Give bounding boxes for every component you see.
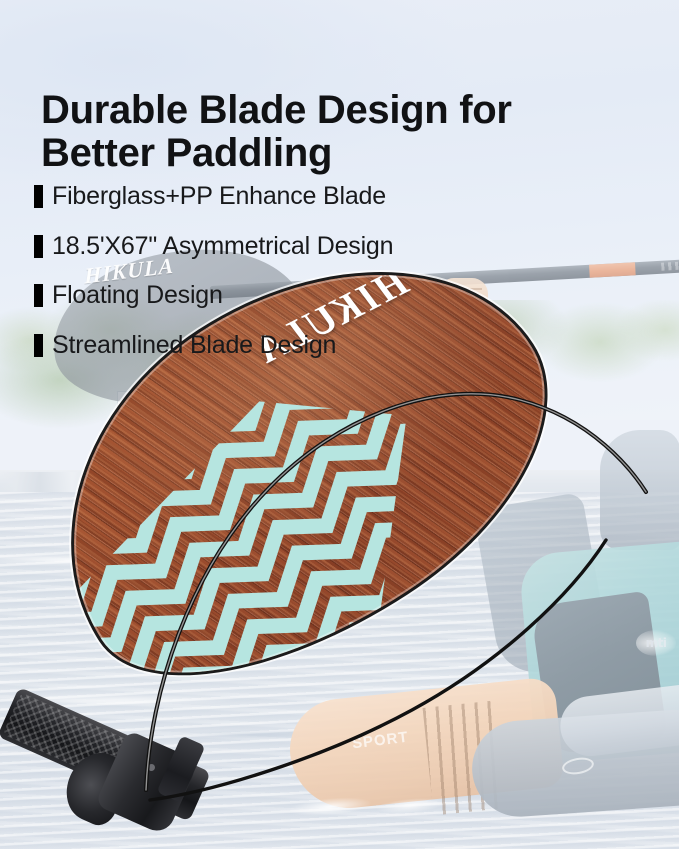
shaft-marking	[661, 259, 679, 271]
bullet-bar-icon	[34, 334, 43, 357]
headline-line-1: Durable Blade Design for	[41, 88, 512, 132]
headline-line-2: Better Paddling	[41, 131, 332, 175]
feature-list: Fiberglass+PP Enhance Blade 18.5'X67" As…	[34, 183, 654, 359]
list-item: Fiberglass+PP Enhance Blade	[34, 183, 654, 211]
list-item: 18.5'X67" Asymmetrical Design	[34, 233, 654, 261]
list-item: Streamlined Blade Design	[34, 332, 654, 360]
feature-label: 18.5'X67" Asymmetrical Design	[52, 233, 393, 261]
product-feature-banner: HIKULA mti SPORT	[0, 0, 679, 849]
page-title: Durable Blade Design for Better Paddling	[41, 89, 641, 175]
list-item: Floating Design	[34, 282, 654, 310]
bullet-bar-icon	[34, 235, 43, 258]
feature-label: Fiberglass+PP Enhance Blade	[52, 183, 386, 211]
feature-label: Floating Design	[52, 282, 223, 310]
bullet-bar-icon	[34, 185, 43, 208]
bullet-bar-icon	[34, 284, 43, 307]
mti-logo: mti	[636, 630, 676, 656]
feature-label: Streamlined Blade Design	[52, 332, 336, 360]
